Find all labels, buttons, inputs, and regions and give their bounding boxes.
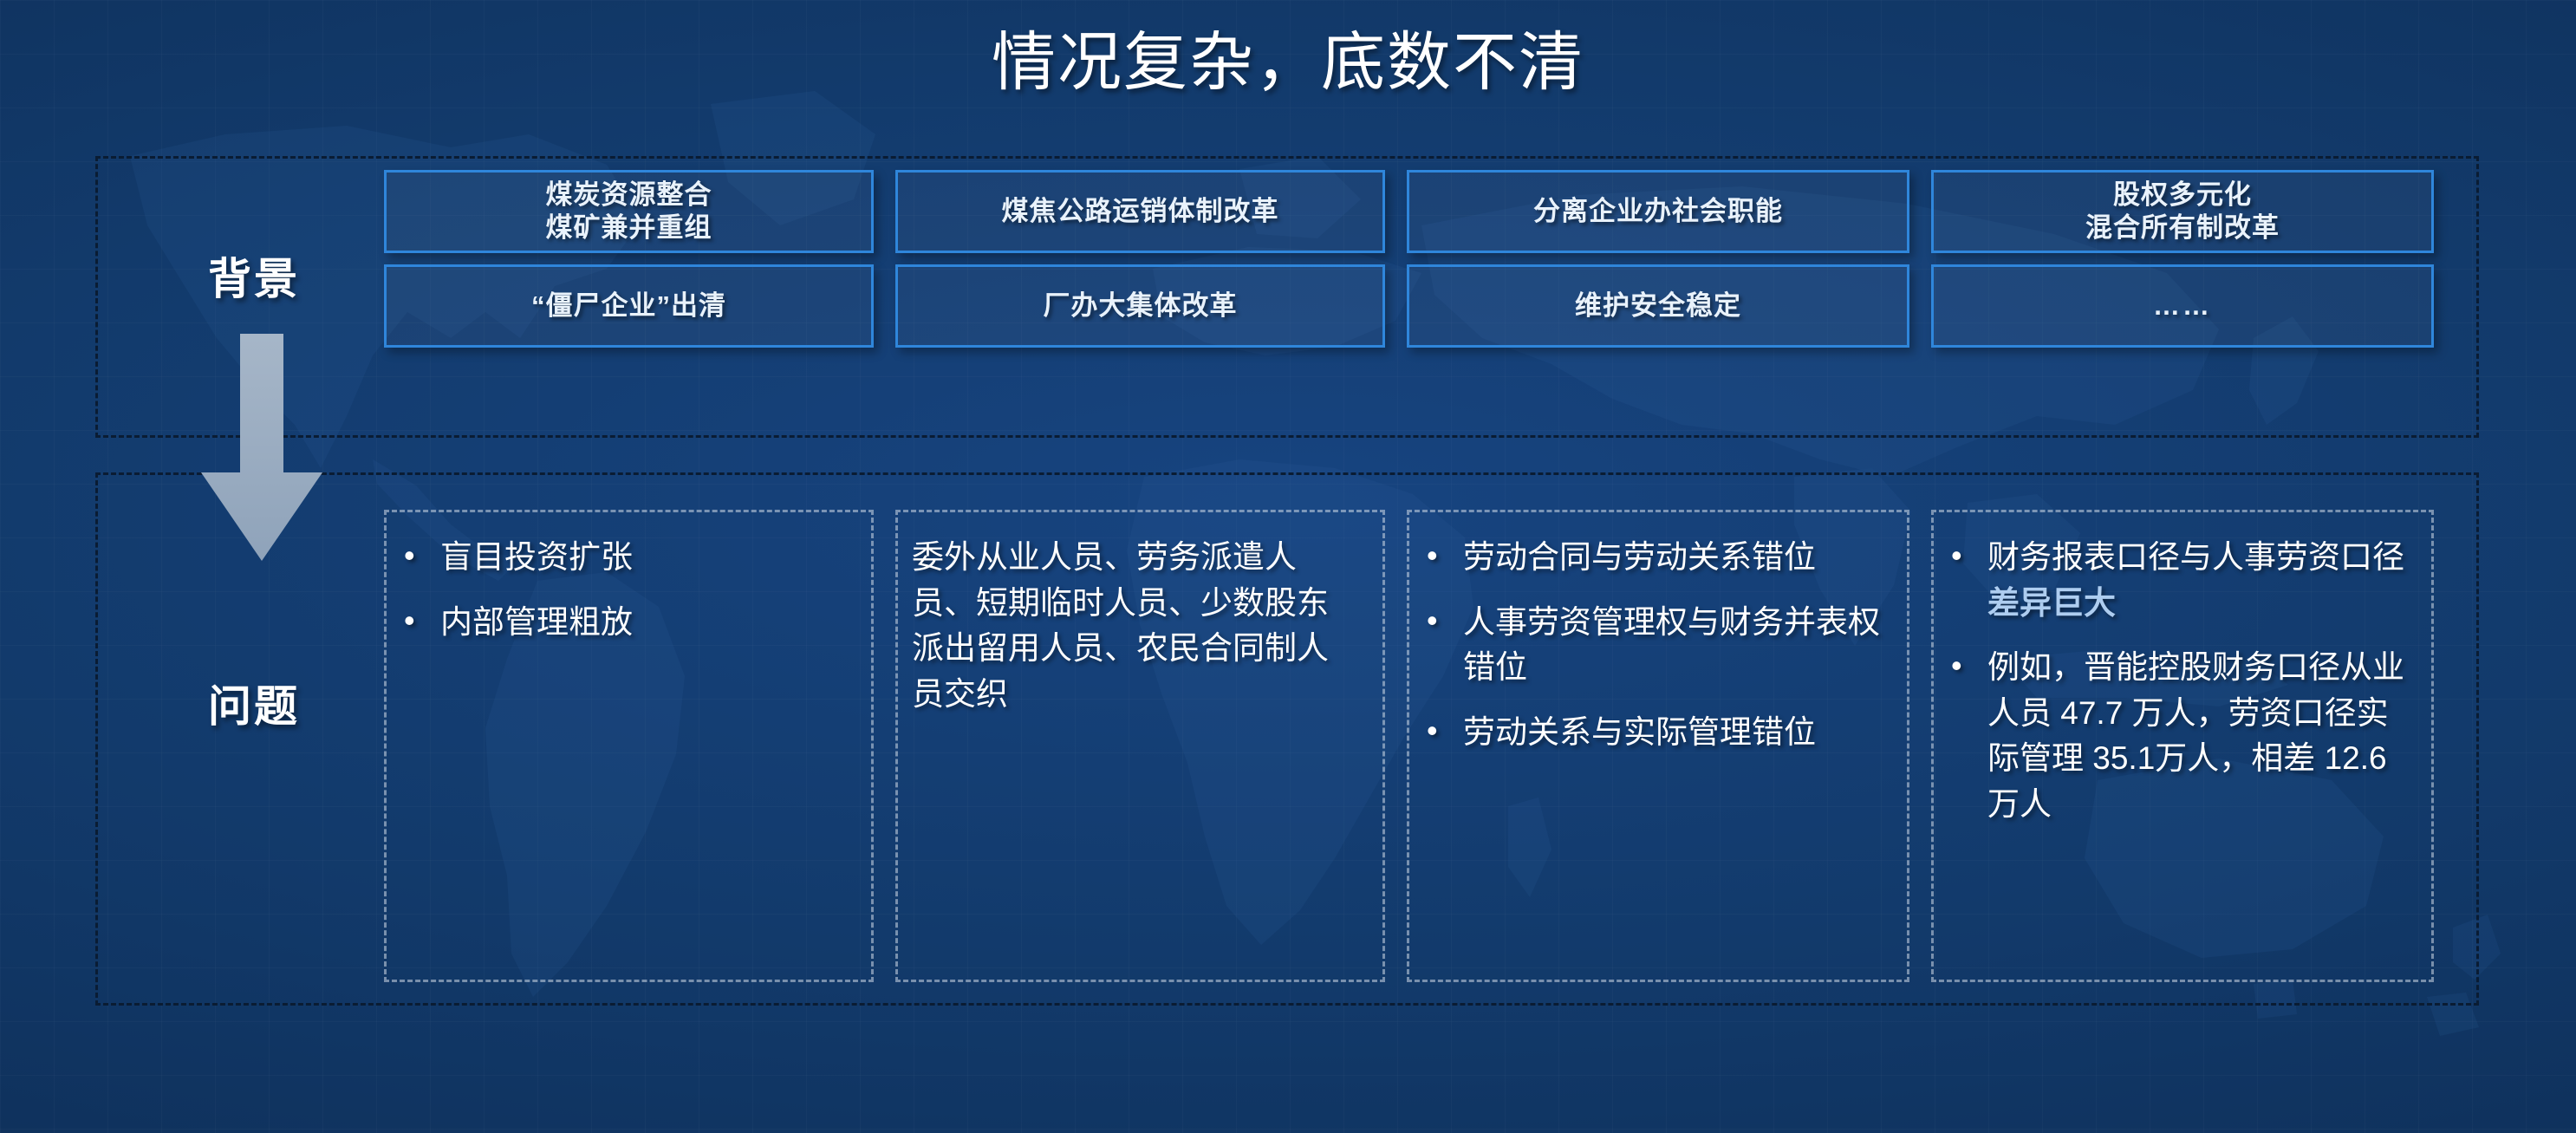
background-box[interactable]: ……: [1931, 264, 2434, 348]
problem-list-item: 例如，晋能控股财务口径从业人员 47.7 万人，劳资口径实际管理 35.1万人，…: [1946, 645, 2409, 827]
background-box[interactable]: 分离企业办社会职能: [1407, 170, 1909, 253]
problem-column-cell: 委外从业人员、劳务派遣人员、短期临时人员、少数股东派出留用人员、农民合同制人员交…: [895, 510, 1407, 982]
problem-list: 财务报表口径与人事劳资口径差异巨大 例如，晋能控股财务口径从业人员 47.7 万…: [1946, 535, 2409, 827]
problem-list-item: 委外从业人员、劳务派遣人员、短期临时人员、少数股东派出留用人员、农民合同制人员交…: [910, 535, 1360, 717]
background-box-line: “僵尸企业”出清: [531, 290, 726, 322]
problem-columns-grid: 盲目投资扩张 内部管理粗放 委外从业人员、劳务派遣人员、短期临时人员、少数股东派…: [384, 510, 2456, 982]
background-box-line: 分离企业办社会职能: [1533, 195, 1783, 228]
background-item-cell: 煤炭资源整合 煤矿兼并重组: [384, 170, 895, 253]
background-box[interactable]: 股权多元化 混合所有制改革: [1931, 170, 2434, 253]
problem-column: 财务报表口径与人事劳资口径差异巨大 例如，晋能控股财务口径从业人员 47.7 万…: [1931, 510, 2434, 982]
background-item-cell: 股权多元化 混合所有制改革: [1931, 170, 2456, 253]
background-box-line: 维护安全稳定: [1575, 290, 1741, 322]
background-box-line: 煤焦公路运销体制改革: [1002, 195, 1279, 228]
page-title: 情况复杂，底数不清: [0, 10, 2576, 103]
background-box-line: 股权多元化: [2113, 179, 2252, 212]
problem-column-cell: 财务报表口径与人事劳资口径差异巨大 例如，晋能控股财务口径从业人员 47.7 万…: [1931, 510, 2456, 982]
background-box-line: 煤矿兼并重组: [546, 212, 712, 244]
problem-list-item: 劳动关系与实际管理错位: [1421, 710, 1884, 756]
background-section-label: 背景: [208, 244, 300, 307]
background-item-cell: “僵尸企业”出清: [384, 264, 895, 348]
background-item-cell: 分离企业办社会职能: [1407, 170, 1931, 253]
problem-text-highlight: 差异巨大: [1987, 585, 2116, 621]
background-box[interactable]: 煤焦公路运销体制改革: [895, 170, 1385, 253]
background-box[interactable]: “僵尸企业”出清: [384, 264, 874, 348]
problem-list: 劳动合同与劳动关系错位 人事劳资管理权与财务并表权错位 劳动关系与实际管理错位: [1421, 535, 1884, 755]
background-item-cell: 厂办大集体改革: [895, 264, 1407, 348]
problem-list: 盲目投资扩张 内部管理粗放: [399, 535, 849, 645]
background-box[interactable]: 厂办大集体改革: [895, 264, 1385, 348]
problem-list-item: 劳动合同与劳动关系错位: [1421, 535, 1884, 581]
background-box-line: 厂办大集体改革: [1044, 290, 1238, 322]
background-box-line: 煤炭资源整合: [546, 179, 712, 212]
problem-column-cell: 劳动合同与劳动关系错位 人事劳资管理权与财务并表权错位 劳动关系与实际管理错位: [1407, 510, 1931, 982]
problem-column-cell: 盲目投资扩张 内部管理粗放: [384, 510, 895, 982]
background-item-cell: ……: [1931, 264, 2456, 348]
problem-section-label: 问题: [208, 672, 300, 734]
problem-list-item: 人事劳资管理权与财务并表权错位: [1421, 600, 1884, 691]
problem-list: 委外从业人员、劳务派遣人员、短期临时人员、少数股东派出留用人员、农民合同制人员交…: [910, 535, 1360, 717]
background-box-line: ……: [2153, 290, 2212, 322]
problem-column: 劳动合同与劳动关系错位 人事劳资管理权与财务并表权错位 劳动关系与实际管理错位: [1407, 510, 1909, 982]
problem-list-item: 财务报表口径与人事劳资口径差异巨大: [1946, 535, 2409, 626]
slide-canvas: 情况复杂，底数不清 背景 问题 煤炭资源整合 煤矿兼并重组 煤焦公路: [0, 0, 2576, 1133]
background-item-cell: 维护安全稳定: [1407, 264, 1931, 348]
problem-text-plain: 财务报表口径与人事劳资口径: [1987, 539, 2404, 575]
background-box[interactable]: 维护安全稳定: [1407, 264, 1909, 348]
problem-list-item: 内部管理粗放: [399, 600, 849, 646]
problem-column: 委外从业人员、劳务派遣人员、短期临时人员、少数股东派出留用人员、农民合同制人员交…: [895, 510, 1385, 982]
background-box-line: 混合所有制改革: [2085, 212, 2280, 244]
background-box[interactable]: 煤炭资源整合 煤矿兼并重组: [384, 170, 874, 253]
problem-column: 盲目投资扩张 内部管理粗放: [384, 510, 874, 982]
problem-list-item: 盲目投资扩张: [399, 535, 849, 581]
problem-text-plain: 例如，晋能控股财务口径从业人员 47.7 万人，劳资口径实际管理 35.1万人，…: [1987, 649, 2404, 822]
background-items-grid: 煤炭资源整合 煤矿兼并重组 煤焦公路运销体制改革 分离企业办社会职能 股权多元化…: [384, 170, 2456, 348]
background-item-cell: 煤焦公路运销体制改革: [895, 170, 1407, 253]
